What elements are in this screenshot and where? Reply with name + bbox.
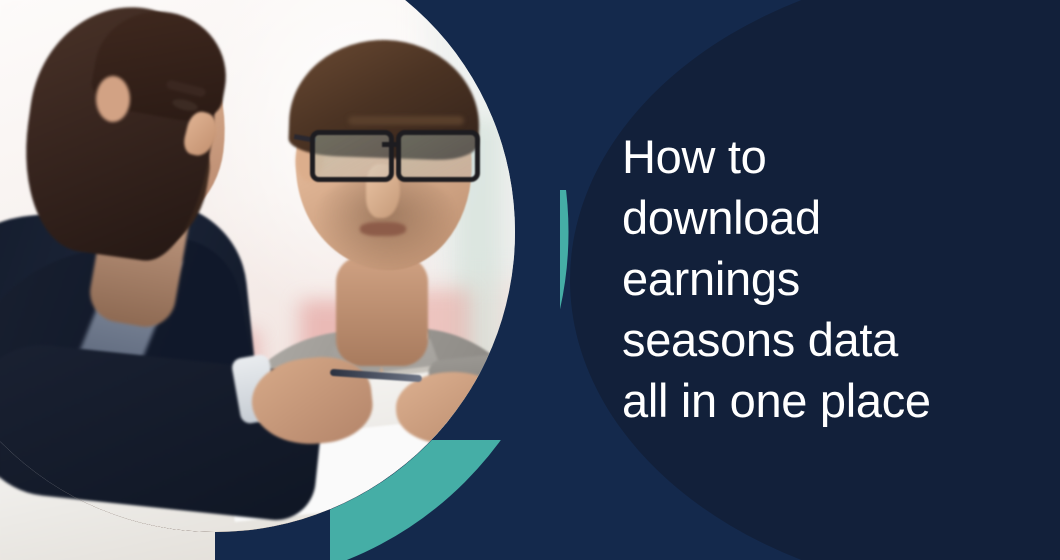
- marketing-banner: How to download earnings seasons data al…: [0, 0, 1060, 560]
- page-title: How to download earnings seasons data al…: [622, 126, 1022, 431]
